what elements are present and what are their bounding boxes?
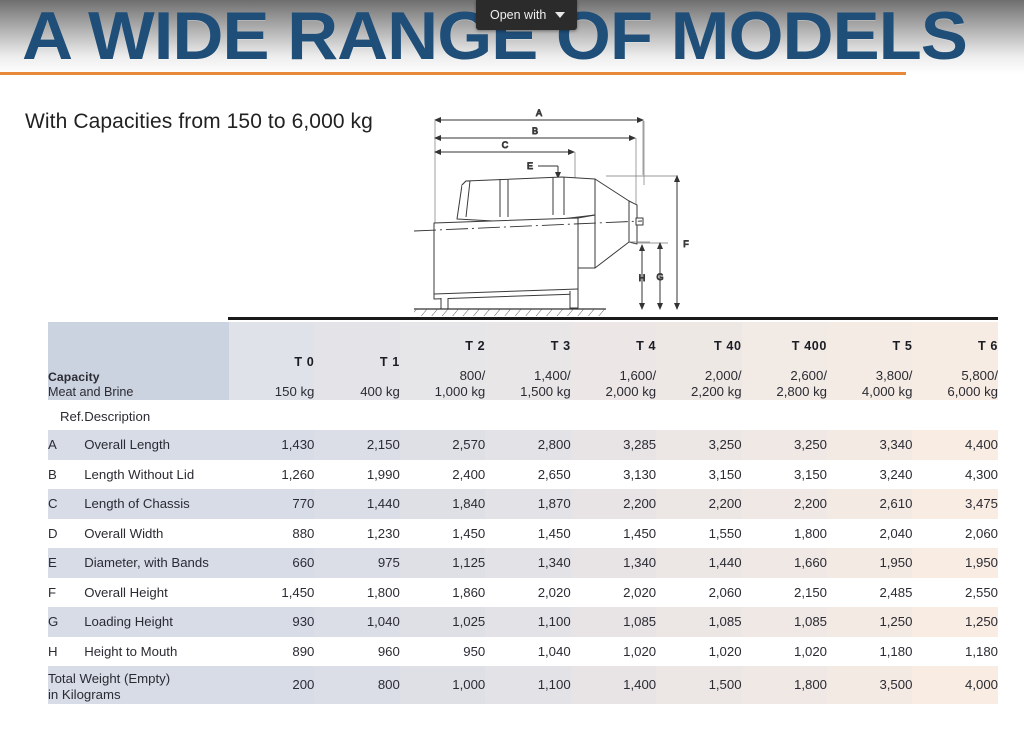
cell-e-t1: 975 bbox=[314, 548, 399, 578]
cell-e-t6: 1,950 bbox=[912, 548, 998, 578]
cell-b-t4: 3,130 bbox=[571, 460, 656, 490]
open-with-button[interactable]: Open with bbox=[476, 0, 577, 30]
table-row: FOverall Height1,4501,8001,8602,0202,020… bbox=[48, 578, 998, 608]
cell-f-t1: 1,800 bbox=[314, 578, 399, 608]
cell-e-t4: 1,340 bbox=[571, 548, 656, 578]
model-capacity-line1: 3,800/ bbox=[827, 368, 912, 384]
model-name: T 4 bbox=[571, 338, 656, 354]
subheader-spacer bbox=[912, 400, 998, 430]
model-capacity-line1: 2,600/ bbox=[742, 368, 827, 384]
table-subheader-row: Ref.Description bbox=[48, 400, 998, 430]
cell-a-t400: 3,250 bbox=[742, 430, 827, 460]
ref-column-header: Ref. bbox=[48, 400, 84, 430]
model-name: T 400 bbox=[742, 338, 827, 354]
cell-d-t1: 1,230 bbox=[314, 519, 399, 549]
slide-page: A WIDE RANGE OF MODELS Open with With Ca… bbox=[0, 0, 1024, 749]
cell-h-t1: 960 bbox=[314, 637, 399, 667]
row-ref: B bbox=[48, 460, 84, 490]
table-row: HHeight to Mouth8909609501,0401,0201,020… bbox=[48, 637, 998, 667]
chevron-down-icon bbox=[555, 12, 565, 18]
cell-b-t6: 4,300 bbox=[912, 460, 998, 490]
cell-total-t2: 1,000 bbox=[400, 666, 485, 704]
model-capacity-line1: 2,000/ bbox=[656, 368, 741, 384]
total-weight-label-line1: Total Weight (Empty) bbox=[48, 671, 229, 687]
column-header-t3: T 31,400/1,500 kg bbox=[485, 322, 570, 400]
cell-f-t5: 2,485 bbox=[827, 578, 912, 608]
column-header-t5: T 53,800/4,000 kg bbox=[827, 322, 912, 400]
cell-a-t1: 2,150 bbox=[314, 430, 399, 460]
cell-h-t5: 1,180 bbox=[827, 637, 912, 667]
column-header-t1: T 1400 kg bbox=[314, 322, 399, 400]
cell-g-t4: 1,085 bbox=[571, 607, 656, 637]
column-header-t400: T 4002,600/2,800 kg bbox=[742, 322, 827, 400]
svg-text:B: B bbox=[532, 126, 538, 136]
subheader-spacer bbox=[827, 400, 912, 430]
model-capacity-line2: 1,000 kg bbox=[400, 384, 485, 400]
cell-d-t400: 1,800 bbox=[742, 519, 827, 549]
cell-d-t3: 1,450 bbox=[485, 519, 570, 549]
cell-c-t4: 2,200 bbox=[571, 489, 656, 519]
svg-text:E: E bbox=[527, 161, 533, 171]
row-ref: H bbox=[48, 637, 84, 667]
model-name: T 0 bbox=[229, 354, 314, 370]
title-underline-rule bbox=[0, 72, 906, 75]
cell-a-t4: 3,285 bbox=[571, 430, 656, 460]
cell-total-t400: 1,800 bbox=[742, 666, 827, 704]
table-row: BLength Without Lid1,2601,9902,4002,6503… bbox=[48, 460, 998, 490]
cell-h-t3: 1,040 bbox=[485, 637, 570, 667]
table-row: DOverall Width8801,2301,4501,4501,4501,5… bbox=[48, 519, 998, 549]
cell-f-t6: 2,550 bbox=[912, 578, 998, 608]
row-ref: D bbox=[48, 519, 84, 549]
row-description: Length of Chassis bbox=[84, 489, 229, 519]
table-row: EDiameter, with Bands6609751,1251,3401,3… bbox=[48, 548, 998, 578]
row-description: Overall Height bbox=[84, 578, 229, 608]
cell-c-t2: 1,840 bbox=[400, 489, 485, 519]
cell-f-t0: 1,450 bbox=[229, 578, 314, 608]
cell-c-t400: 2,200 bbox=[742, 489, 827, 519]
cell-c-t6: 3,475 bbox=[912, 489, 998, 519]
cell-total-t5: 3,500 bbox=[827, 666, 912, 704]
table-row: AOverall Length1,4302,1502,5702,8003,285… bbox=[48, 430, 998, 460]
cell-b-t400: 3,150 bbox=[742, 460, 827, 490]
total-weight-label: Total Weight (Empty)in Kilograms bbox=[48, 666, 229, 704]
row-description: Length Without Lid bbox=[84, 460, 229, 490]
cell-b-t5: 3,240 bbox=[827, 460, 912, 490]
cell-f-t400: 2,150 bbox=[742, 578, 827, 608]
cell-c-t1: 1,440 bbox=[314, 489, 399, 519]
row-description: Overall Length bbox=[84, 430, 229, 460]
cell-a-t40: 3,250 bbox=[656, 430, 741, 460]
cell-f-t4: 2,020 bbox=[571, 578, 656, 608]
cell-d-t0: 880 bbox=[229, 519, 314, 549]
svg-text:F: F bbox=[683, 239, 689, 249]
cell-total-t0: 200 bbox=[229, 666, 314, 704]
cell-e-t3: 1,340 bbox=[485, 548, 570, 578]
cell-e-t0: 660 bbox=[229, 548, 314, 578]
capacity-header-cell: CapacityMeat and Brine bbox=[48, 322, 229, 400]
capacity-sublabel: Meat and Brine bbox=[48, 385, 229, 400]
table-header-row: CapacityMeat and BrineT 0150 kgT 1400 kg… bbox=[48, 322, 998, 400]
cell-g-t3: 1,100 bbox=[485, 607, 570, 637]
subheader-spacer bbox=[400, 400, 485, 430]
model-name: T 6 bbox=[912, 338, 998, 354]
model-capacity-line1: 400 kg bbox=[314, 384, 399, 400]
model-capacity-line1: 5,800/ bbox=[912, 368, 998, 384]
description-column-header: Description bbox=[84, 400, 229, 430]
subheader-spacer bbox=[314, 400, 399, 430]
model-capacity-line1: 150 kg bbox=[229, 384, 314, 400]
row-ref: C bbox=[48, 489, 84, 519]
specifications-table-wrapper: CapacityMeat and BrineT 0150 kgT 1400 kg… bbox=[48, 322, 998, 704]
model-capacity-line2: 2,000 kg bbox=[571, 384, 656, 400]
row-description: Loading Height bbox=[84, 607, 229, 637]
cell-b-t0: 1,260 bbox=[229, 460, 314, 490]
subheader-spacer bbox=[229, 400, 314, 430]
table-row: GLoading Height9301,0401,0251,1001,0851,… bbox=[48, 607, 998, 637]
specifications-table: CapacityMeat and BrineT 0150 kgT 1400 kg… bbox=[48, 322, 998, 704]
table-top-rule bbox=[228, 317, 998, 320]
svg-text:C: C bbox=[502, 140, 509, 150]
model-capacity-line2: 6,000 kg bbox=[912, 384, 998, 400]
cell-e-t2: 1,125 bbox=[400, 548, 485, 578]
model-capacity-line2: 4,000 kg bbox=[827, 384, 912, 400]
column-header-t6: T 65,800/6,000 kg bbox=[912, 322, 998, 400]
subheader-spacer bbox=[656, 400, 741, 430]
table-body: CapacityMeat and BrineT 0150 kgT 1400 kg… bbox=[48, 322, 998, 704]
cell-e-t400: 1,660 bbox=[742, 548, 827, 578]
cell-a-t3: 2,800 bbox=[485, 430, 570, 460]
subheader-spacer bbox=[742, 400, 827, 430]
cell-g-t2: 1,025 bbox=[400, 607, 485, 637]
cell-f-t40: 2,060 bbox=[656, 578, 741, 608]
model-capacity-line2: 2,800 kg bbox=[742, 384, 827, 400]
column-header-t4: T 41,600/2,000 kg bbox=[571, 322, 656, 400]
subheader-spacer bbox=[571, 400, 656, 430]
model-name: T 5 bbox=[827, 338, 912, 354]
cell-h-t0: 890 bbox=[229, 637, 314, 667]
svg-text:G: G bbox=[656, 272, 663, 282]
tumbler-side-elevation-drawing: A B C E bbox=[410, 105, 710, 320]
model-name: T 3 bbox=[485, 338, 570, 354]
cell-d-t5: 2,040 bbox=[827, 519, 912, 549]
table-total-row: Total Weight (Empty)in Kilograms2008001,… bbox=[48, 666, 998, 704]
cell-total-t4: 1,400 bbox=[571, 666, 656, 704]
cell-b-t2: 2,400 bbox=[400, 460, 485, 490]
svg-text:A: A bbox=[536, 108, 542, 118]
model-capacity-line1: 1,600/ bbox=[571, 368, 656, 384]
cell-d-t40: 1,550 bbox=[656, 519, 741, 549]
cell-g-t40: 1,085 bbox=[656, 607, 741, 637]
cell-f-t2: 1,860 bbox=[400, 578, 485, 608]
row-ref: E bbox=[48, 548, 84, 578]
row-ref: A bbox=[48, 430, 84, 460]
table-row: CLength of Chassis7701,4401,8401,8702,20… bbox=[48, 489, 998, 519]
cell-g-t5: 1,250 bbox=[827, 607, 912, 637]
open-with-label: Open with bbox=[490, 0, 546, 30]
cell-g-t6: 1,250 bbox=[912, 607, 998, 637]
cell-h-t6: 1,180 bbox=[912, 637, 998, 667]
cell-total-t6: 4,000 bbox=[912, 666, 998, 704]
cell-a-t0: 1,430 bbox=[229, 430, 314, 460]
cell-c-t40: 2,200 bbox=[656, 489, 741, 519]
column-header-t2: T 2800/1,000 kg bbox=[400, 322, 485, 400]
model-name: T 1 bbox=[314, 354, 399, 370]
row-description: Height to Mouth bbox=[84, 637, 229, 667]
cell-f-t3: 2,020 bbox=[485, 578, 570, 608]
model-capacity-line2: 2,200 kg bbox=[656, 384, 741, 400]
cell-total-t1: 800 bbox=[314, 666, 399, 704]
column-header-t40: T 402,000/2,200 kg bbox=[656, 322, 741, 400]
cell-total-t40: 1,500 bbox=[656, 666, 741, 704]
svg-text:H: H bbox=[639, 273, 646, 283]
cell-d-t2: 1,450 bbox=[400, 519, 485, 549]
cell-g-t400: 1,085 bbox=[742, 607, 827, 637]
cell-g-t1: 1,040 bbox=[314, 607, 399, 637]
cell-c-t3: 1,870 bbox=[485, 489, 570, 519]
cell-total-t3: 1,100 bbox=[485, 666, 570, 704]
capacity-label: Capacity bbox=[48, 370, 229, 385]
cell-h-t400: 1,020 bbox=[742, 637, 827, 667]
row-description: Diameter, with Bands bbox=[84, 548, 229, 578]
model-name: T 40 bbox=[656, 338, 741, 354]
cell-b-t40: 3,150 bbox=[656, 460, 741, 490]
cell-d-t4: 1,450 bbox=[571, 519, 656, 549]
cell-a-t5: 3,340 bbox=[827, 430, 912, 460]
cell-g-t0: 930 bbox=[229, 607, 314, 637]
total-weight-label-line2: in Kilograms bbox=[48, 687, 229, 703]
cell-e-t40: 1,440 bbox=[656, 548, 741, 578]
row-description: Overall Width bbox=[84, 519, 229, 549]
model-capacity-line1: 800/ bbox=[400, 368, 485, 384]
cell-c-t0: 770 bbox=[229, 489, 314, 519]
model-capacity-line2: 1,500 kg bbox=[485, 384, 570, 400]
cell-h-t40: 1,020 bbox=[656, 637, 741, 667]
cell-h-t4: 1,020 bbox=[571, 637, 656, 667]
row-ref: G bbox=[48, 607, 84, 637]
cell-e-t5: 1,950 bbox=[827, 548, 912, 578]
row-ref: F bbox=[48, 578, 84, 608]
cell-b-t3: 2,650 bbox=[485, 460, 570, 490]
cell-a-t6: 4,400 bbox=[912, 430, 998, 460]
subtitle: With Capacities from 150 to 6,000 kg bbox=[25, 110, 373, 134]
model-capacity-line1: 1,400/ bbox=[485, 368, 570, 384]
cell-c-t5: 2,610 bbox=[827, 489, 912, 519]
column-header-t0: T 0150 kg bbox=[229, 322, 314, 400]
cell-h-t2: 950 bbox=[400, 637, 485, 667]
cell-a-t2: 2,570 bbox=[400, 430, 485, 460]
cell-d-t6: 2,060 bbox=[912, 519, 998, 549]
model-name: T 2 bbox=[400, 338, 485, 354]
cell-b-t1: 1,990 bbox=[314, 460, 399, 490]
subheader-spacer bbox=[485, 400, 570, 430]
